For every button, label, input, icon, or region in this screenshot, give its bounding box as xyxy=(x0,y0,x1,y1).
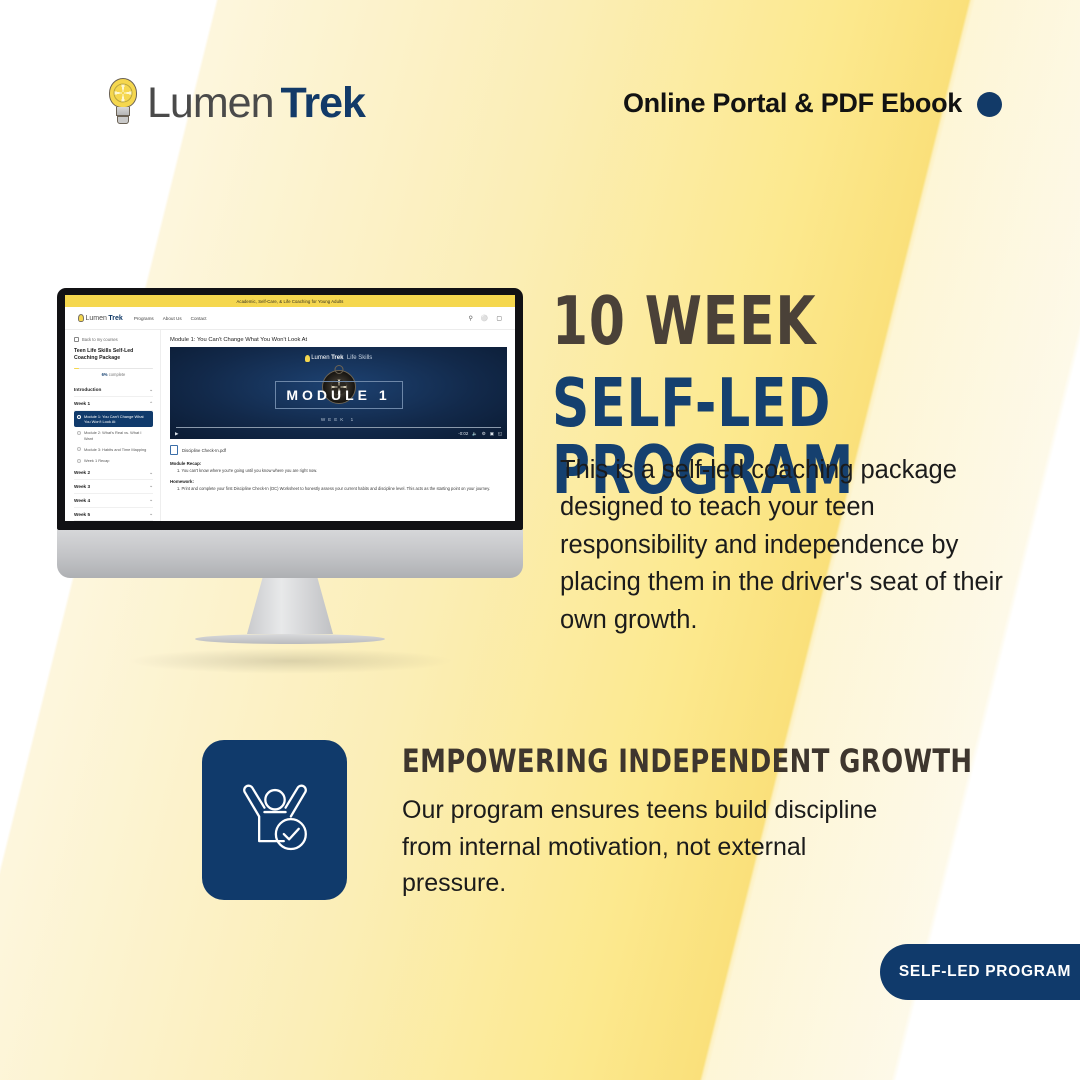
lms-main-content: Module 1: You Can't Change What You Won'… xyxy=(161,330,515,521)
course-title: Teen Life Skills Self-Led Coaching Packa… xyxy=(74,348,153,363)
monitor-stand xyxy=(247,578,333,634)
lesson-status-icon xyxy=(77,447,81,451)
homework-item: 1. Print and complete your first Discipl… xyxy=(170,486,507,492)
lesson-label: Week 1 Recap xyxy=(84,458,109,463)
video-player[interactable]: LumenTrek Life Skills MODULE 1 WEEK 1 ▶ xyxy=(170,347,507,439)
recap-item: 1. You can't know where you're going unt… xyxy=(170,468,507,474)
lesson-label: Module 3: Habits and Time Mapping xyxy=(84,447,146,452)
monitor-mockup: Academic, Self-Care, & Life Coaching for… xyxy=(57,288,523,674)
headline-line-1: 10 WEEK xyxy=(552,288,816,355)
site-logo-lumen: Lumen xyxy=(86,315,107,322)
feature-title: EMPOWERING INDEPENDENT GROWTH xyxy=(402,742,972,780)
chevron-up-icon: ⌃ xyxy=(149,401,153,407)
chevron-down-icon: ⌄ xyxy=(149,483,153,489)
play-icon[interactable]: ▶ xyxy=(175,431,178,437)
monitor-bezel: Academic, Self-Care, & Life Coaching for… xyxy=(57,288,523,530)
site-navbar: LumenTrek Programs About Us Contact ⚲ ⚪ … xyxy=(65,307,515,330)
section-week-5[interactable]: Week 5 ⌄ xyxy=(74,508,153,521)
nav-link-contact[interactable]: Contact xyxy=(191,316,207,321)
video-time: -0:02 xyxy=(458,431,468,436)
lesson-title: Module 1: You Can't Change What You Won'… xyxy=(170,337,507,343)
section-label: Week 2 xyxy=(74,470,90,475)
feature-icon-tile xyxy=(202,740,347,900)
lesson-status-icon xyxy=(77,459,81,463)
progress-word: complete xyxy=(109,372,126,377)
section-label: Introduction xyxy=(74,387,101,392)
lesson-label: Module 2: What's Real vs. What I Want xyxy=(84,430,150,440)
navy-dot-icon xyxy=(977,92,1002,117)
chevron-down-icon: ⌄ xyxy=(149,470,153,476)
chevron-down-icon: ⌄ xyxy=(149,511,153,517)
section-label: Week 5 xyxy=(74,512,90,517)
recap-heading: Module Recap: xyxy=(170,461,507,466)
brand-logo: LumenTrek xyxy=(106,78,365,128)
settings-icon[interactable]: ⚙ xyxy=(482,431,486,437)
cta-self-led-program-button[interactable]: SELF-LED PROGRAM xyxy=(880,944,1080,1000)
video-module-plate: MODULE 1 xyxy=(275,381,403,409)
section-week-1[interactable]: Week 1 ⌃ xyxy=(74,397,153,411)
grid-icon xyxy=(74,337,79,342)
video-module-label: MODULE 1 xyxy=(286,387,390,403)
progress-bar xyxy=(74,368,153,370)
lms-layout: Back to my courses Teen Life Skills Self… xyxy=(65,330,515,521)
monitor-base xyxy=(195,634,385,644)
back-link-label: Back to my courses xyxy=(82,337,118,342)
attachment-name: Discipline Check-In.pdf xyxy=(182,448,226,453)
video-week-label: WEEK 1 xyxy=(321,417,356,422)
pdf-file-icon xyxy=(170,445,178,455)
chevron-down-icon: ⌄ xyxy=(149,387,153,393)
feature-body: Our program ensures teens build discipli… xyxy=(402,792,882,902)
video-brand-lockup: LumenTrek Life Skills xyxy=(305,355,373,362)
search-icon[interactable]: ⚲ xyxy=(468,315,472,322)
monitor-shadow xyxy=(125,648,455,674)
lesson-status-icon xyxy=(77,431,81,435)
video-controls: ▶ -0:02 🔈 ⚙ ▣ ◱ xyxy=(175,431,502,437)
attachment-row[interactable]: Discipline Check-In.pdf xyxy=(170,445,507,455)
header-kicker: Online Portal & PDF Ebook xyxy=(623,88,962,119)
cta-label: SELF-LED PROGRAM xyxy=(899,963,1071,981)
site-logo-trek: Trek xyxy=(108,315,122,322)
chevron-down-icon: ⌄ xyxy=(149,497,153,503)
monitor-chin xyxy=(57,530,523,578)
lightbulb-icon xyxy=(305,355,310,362)
section-introduction[interactable]: Introduction ⌄ xyxy=(74,383,153,397)
progress-label: 6% complete xyxy=(74,372,153,377)
logo-text-trek: Trek xyxy=(280,79,364,128)
announcement-text: Academic, Self-Care, & Life Coaching for… xyxy=(236,299,343,304)
poster-canvas: LumenTrek Online Portal & PDF Ebook Acad… xyxy=(0,0,1080,1080)
lesson-item-week-1-recap[interactable]: Week 1 Recap xyxy=(74,455,153,466)
nav-link-programs[interactable]: Programs xyxy=(134,316,154,321)
site-nav-links: Programs About Us Contact xyxy=(134,316,207,321)
video-brand-suffix: Life Skills xyxy=(347,355,372,361)
lesson-status-icon xyxy=(77,415,81,419)
picture-in-picture-icon[interactable]: ▣ xyxy=(490,431,494,437)
lightbulb-compass-icon xyxy=(106,78,140,128)
homework-heading: Homework: xyxy=(170,479,507,484)
back-to-courses-link[interactable]: Back to my courses xyxy=(74,337,153,342)
site-announcement-bar: Academic, Self-Care, & Life Coaching for… xyxy=(65,295,515,307)
cart-icon[interactable]: ▢ xyxy=(496,315,502,322)
lesson-label: Module 1: You Can't Change What You Won'… xyxy=(84,414,150,424)
section-label: Week 4 xyxy=(74,498,90,503)
section-label: Week 1 xyxy=(74,401,90,406)
lms-sidebar: Back to my courses Teen Life Skills Self… xyxy=(65,330,161,521)
section-label: Week 3 xyxy=(74,484,90,489)
video-brand-lumen: Lumen xyxy=(311,355,329,361)
lesson-item-module-3[interactable]: Module 3: Habits and Time Mapping xyxy=(74,444,153,455)
progress-percent: 6% xyxy=(102,372,108,377)
fullscreen-icon[interactable]: ◱ xyxy=(498,431,502,437)
section-week-4[interactable]: Week 4 ⌄ xyxy=(74,494,153,508)
video-progress-bar[interactable] xyxy=(176,427,501,428)
nav-link-about[interactable]: About Us xyxy=(163,316,182,321)
lightbulb-icon xyxy=(78,314,84,322)
person-raised-arms-check-icon xyxy=(231,776,319,864)
account-icon[interactable]: ⚪ xyxy=(481,315,488,322)
video-brand-trek: Trek xyxy=(331,355,343,361)
section-week-3[interactable]: Week 3 ⌄ xyxy=(74,480,153,494)
logo-text-lumen: Lumen xyxy=(147,79,273,128)
monitor-screen: Academic, Self-Care, & Life Coaching for… xyxy=(65,295,515,521)
section-week-2[interactable]: Week 2 ⌄ xyxy=(74,466,153,480)
site-logo[interactable]: LumenTrek xyxy=(78,314,123,322)
site-nav-icons: ⚲ ⚪ ▢ xyxy=(468,315,502,322)
volume-icon[interactable]: 🔈 xyxy=(472,431,477,437)
hero-body-text: This is a self-led coaching package desi… xyxy=(560,452,1010,639)
lesson-item-module-1[interactable]: Module 1: You Can't Change What You Won'… xyxy=(74,411,153,427)
lesson-item-module-2[interactable]: Module 2: What's Real vs. What I Want xyxy=(74,427,153,443)
